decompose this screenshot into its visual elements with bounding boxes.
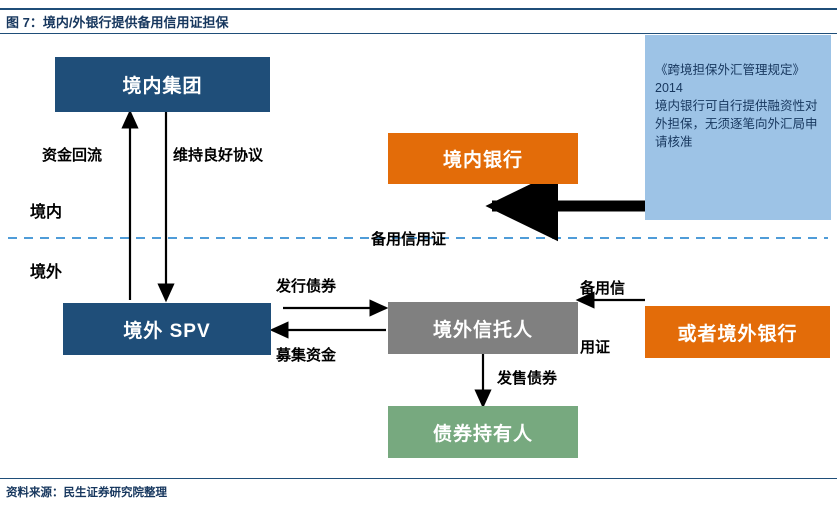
node-offshore-spv-label: 境外 SPV [123, 316, 210, 343]
diagram-canvas: 图 7：境内/外银行提供备用信用证担保 境内集团 [0, 0, 837, 508]
label-capital-return: 资金回流 [42, 144, 102, 165]
node-offshore-trustee-label: 境外信托人 [433, 315, 533, 342]
label-raise-funds: 募集资金 [276, 344, 336, 365]
label-standby-lc-center: 备用信用证 [371, 228, 446, 249]
label-maintain-agreement: 维持良好协议 [173, 144, 263, 165]
title-bottom-rule [0, 33, 837, 34]
label-standby-lc-offshore-line2: 用证 [580, 336, 610, 357]
regulation-note-text: 《跨境担保外汇管理规定》2014 境内银行可自行提供融资性对外担保，无须逐笔向外… [655, 63, 818, 149]
node-offshore-spv[interactable]: 境外 SPV [63, 303, 271, 355]
title-bar: 图 7：境内/外银行提供备用信用证担保 [0, 8, 837, 30]
title-top-rule [0, 8, 837, 10]
node-offshore-bank[interactable]: 或者境外银行 [645, 306, 830, 358]
node-domestic-bank-label: 境内银行 [443, 145, 523, 172]
node-offshore-trustee[interactable]: 境外信托人 [388, 302, 578, 354]
label-onshore: 境内 [30, 198, 62, 222]
label-distribute-bonds: 发售债券 [497, 367, 557, 388]
node-domestic-bank[interactable]: 境内银行 [388, 133, 578, 184]
label-standby-lc-offshore-line1: 备用信 [580, 277, 625, 298]
node-domestic-group-label: 境内集团 [122, 71, 202, 98]
page-title: 图 7：境内/外银行提供备用信用证担保 [6, 12, 228, 31]
regulation-note: 《跨境担保外汇管理规定》2014 境内银行可自行提供融资性对外担保，无须逐笔向外… [645, 35, 831, 220]
node-offshore-bank-label: 或者境外银行 [677, 319, 797, 346]
node-bondholders-label: 债券持有人 [433, 419, 533, 446]
label-offshore: 境外 [30, 258, 62, 282]
label-issue-bonds: 发行债券 [276, 275, 336, 296]
node-bondholders[interactable]: 债券持有人 [388, 406, 578, 458]
source-note: 资料来源：民生证券研究院整理 [6, 484, 167, 500]
footer-rule [0, 478, 837, 479]
node-domestic-group[interactable]: 境内集团 [55, 57, 270, 112]
